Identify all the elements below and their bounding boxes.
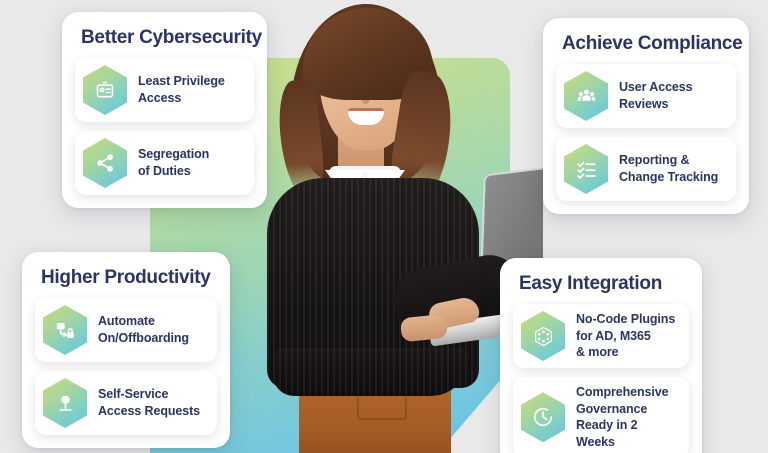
feature-label: Automate On/Offboarding: [98, 313, 189, 346]
feature-label: Least Privilege Access: [138, 73, 225, 106]
checklist-icon: [564, 144, 608, 194]
automate-onboarding-icon: [43, 305, 87, 355]
feature-label: No-Code Plugins for AD, M365 & more: [576, 311, 675, 361]
person-photo: [243, 0, 543, 453]
feature-item-automate-onboarding[interactable]: Automate On/Offboarding: [35, 298, 217, 362]
users-group-icon: [564, 71, 608, 121]
feature-label: Segregation of Duties: [138, 146, 209, 179]
feature-item-least-privilege[interactable]: Least Privilege Access: [75, 58, 254, 122]
feature-item-no-code-plugins[interactable]: No-Code Plugins for AD, M365 & more: [513, 304, 689, 368]
panel-title-productivity: Higher Productivity: [41, 267, 217, 289]
infographic-stage: Better Cybersecurity Least Privilege Acc…: [0, 0, 768, 453]
sweater-hem: [273, 348, 469, 396]
id-badge-icon: [83, 65, 127, 115]
feature-item-segregation-of-duties[interactable]: Segregation of Duties: [75, 131, 254, 195]
feature-label: Reporting & Change Tracking: [619, 152, 718, 185]
panel-compliance: Achieve Compliance User Access Reviews: [543, 18, 749, 214]
panel-productivity: Higher Productivity Automate On/Offboard…: [22, 252, 230, 448]
self-service-tree-icon: [43, 378, 87, 428]
clock-icon: [521, 392, 565, 442]
feature-item-reporting-change-tracking[interactable]: Reporting & Change Tracking: [556, 137, 736, 201]
panel-title-compliance: Achieve Compliance: [562, 33, 736, 55]
panel-title-integration: Easy Integration: [519, 273, 689, 295]
feature-label: Comprehensive Governance Ready in 2 Week…: [576, 384, 679, 451]
panel-title-cybersecurity: Better Cybersecurity: [81, 27, 254, 49]
panel-cybersecurity: Better Cybersecurity Least Privilege Acc…: [62, 12, 267, 208]
feature-label: User Access Reviews: [619, 79, 693, 112]
feature-label: Self-Service Access Requests: [98, 386, 200, 419]
plugin-hex-nodes-icon: [521, 311, 565, 361]
feature-item-self-service-access-requests[interactable]: Self-Service Access Requests: [35, 371, 217, 435]
share-nodes-icon: [83, 138, 127, 188]
feature-item-user-access-reviews[interactable]: User Access Reviews: [556, 64, 736, 128]
feature-item-comprehensive-governance[interactable]: Comprehensive Governance Ready in 2 Week…: [513, 377, 689, 453]
panel-integration: Easy Integration No-Code Plugins for AD,…: [500, 258, 702, 453]
